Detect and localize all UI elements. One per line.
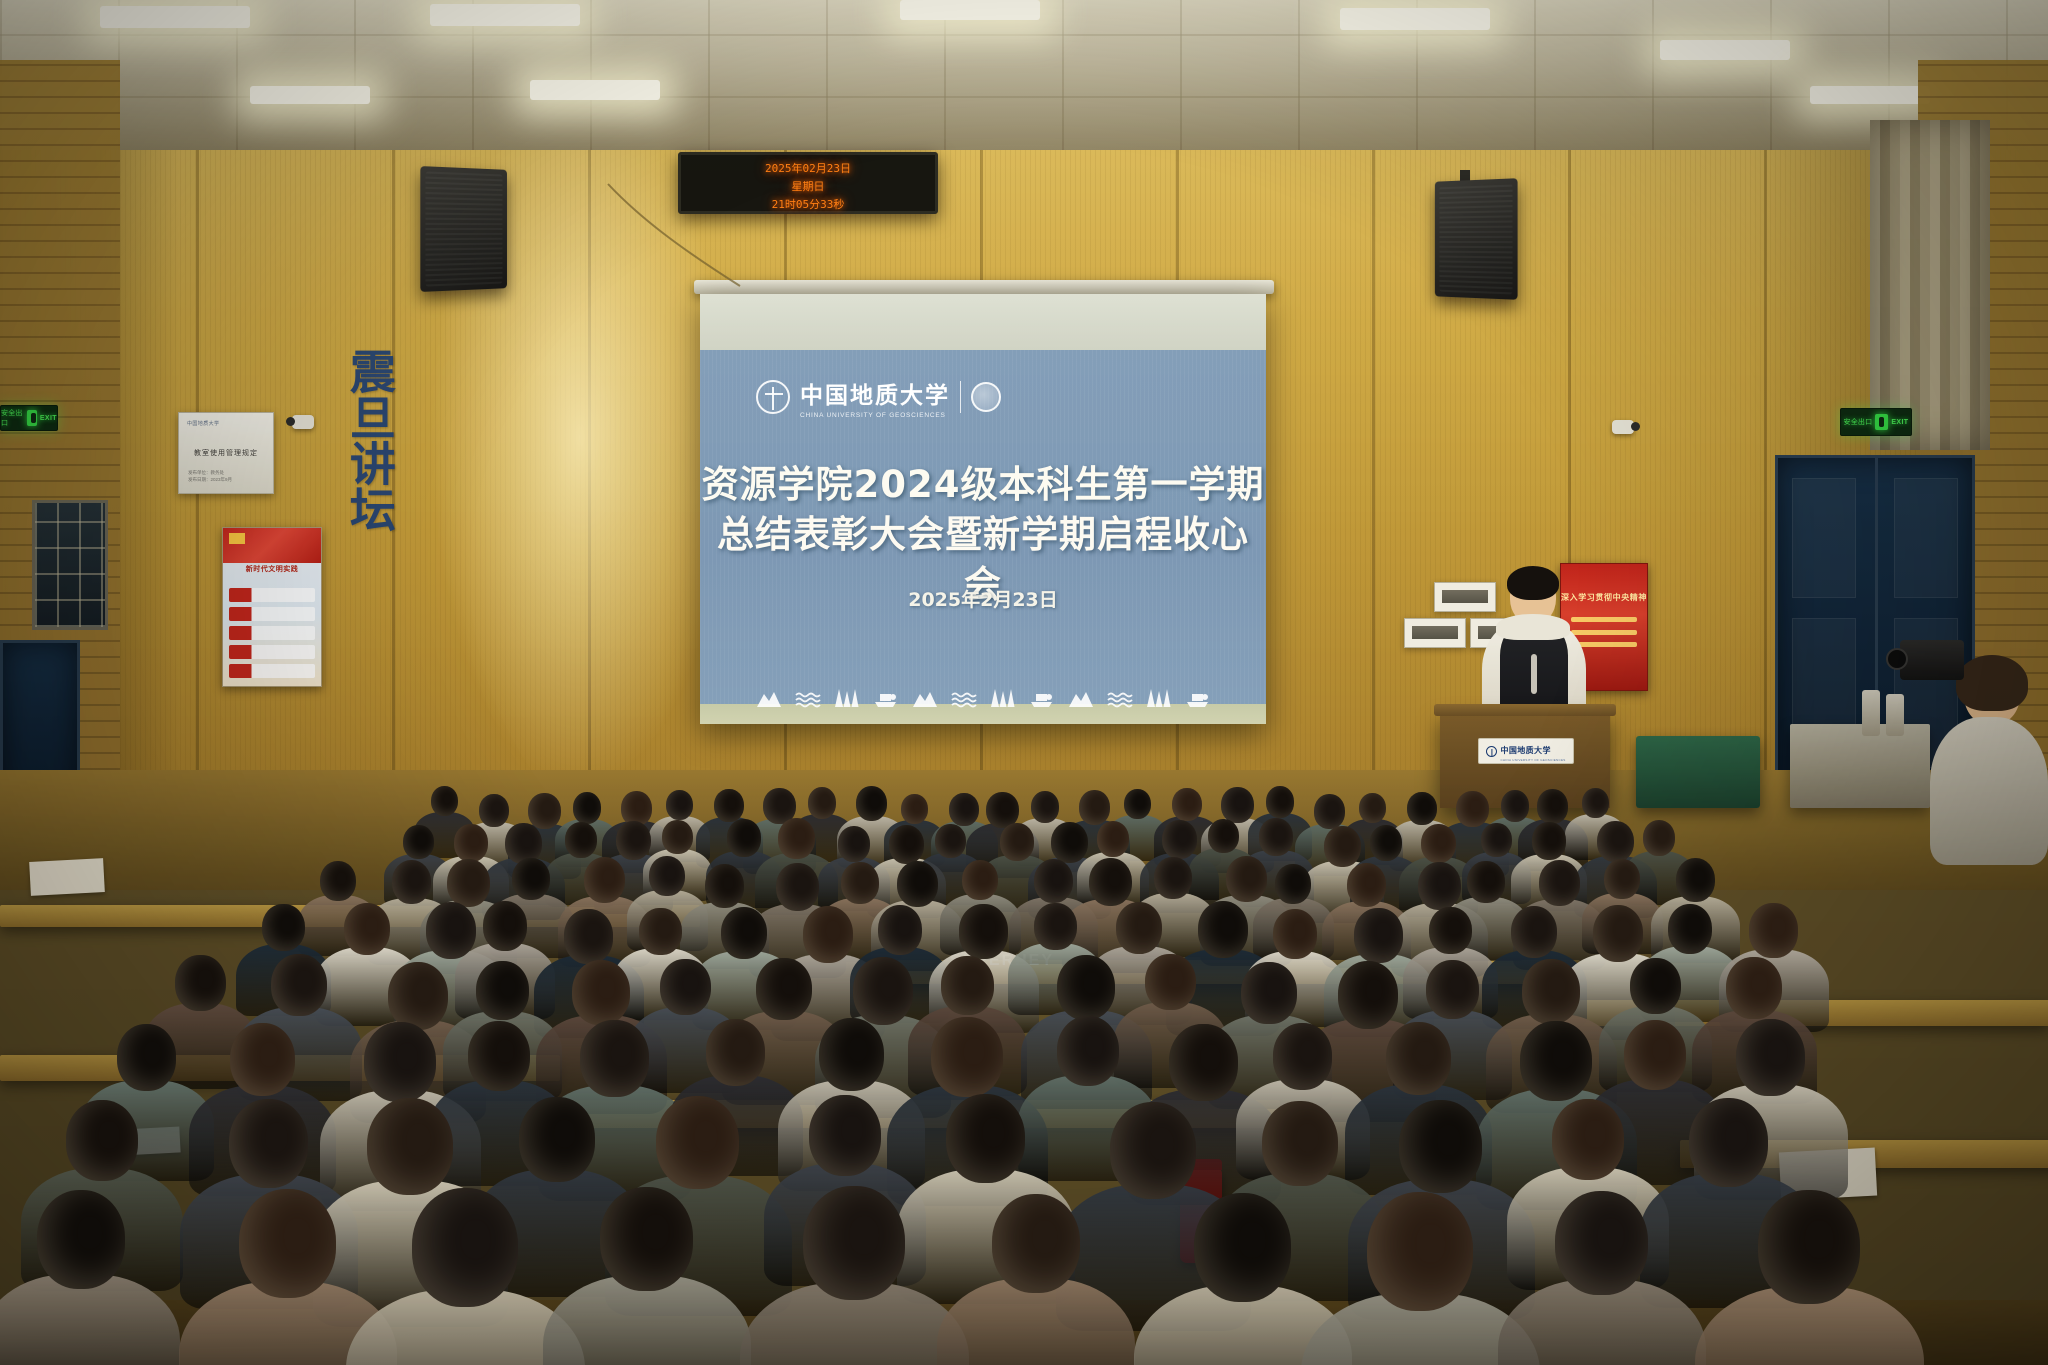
audience-member-head bbox=[992, 1194, 1080, 1293]
audience-member-head bbox=[878, 905, 922, 955]
exit-sign-label-cn: 安全出口 bbox=[1844, 417, 1873, 427]
audience-member-head bbox=[468, 1021, 530, 1091]
audience-member-head bbox=[1262, 1101, 1338, 1186]
audience-member-head bbox=[1604, 859, 1640, 899]
podium-seal-icon bbox=[1486, 746, 1497, 757]
pine-trees-motif-icon bbox=[1146, 688, 1172, 708]
presentation-slide: 中国地质大学 CHINA UNIVERSITY OF GEOSCIENCES 资… bbox=[700, 350, 1266, 724]
podium-plate-cn: 中国地质大学 bbox=[1500, 746, 1550, 755]
notice-footer: 发布单位：教务处 发布日期：2023年9月 bbox=[188, 469, 232, 484]
audience-member-head bbox=[1624, 1020, 1686, 1090]
audience-member-head bbox=[808, 787, 836, 819]
notice-footer-line2: 发布日期：2023年9月 bbox=[188, 476, 232, 484]
audience-member-head bbox=[1273, 1023, 1332, 1090]
slide-title-line1: 资源学院2024级本科生第一学期 bbox=[700, 460, 1266, 510]
audience-member-head bbox=[714, 789, 744, 822]
audience-member-head bbox=[230, 1023, 295, 1096]
wall-speaker-left bbox=[420, 166, 507, 292]
audience-member-head bbox=[935, 824, 966, 858]
running-man-icon bbox=[27, 410, 37, 426]
projector-screen-housing bbox=[694, 280, 1274, 294]
notice-header: 中国地质大学 bbox=[187, 420, 219, 427]
camera-operator bbox=[1930, 655, 2048, 865]
wall-speaker-right bbox=[1435, 178, 1518, 300]
audience-member-head bbox=[367, 1098, 454, 1195]
audience-member-head bbox=[1758, 1190, 1860, 1304]
audience-member-head bbox=[483, 901, 527, 951]
ceiling bbox=[0, 0, 2048, 160]
audience-member-head bbox=[344, 903, 391, 955]
audience-member-head bbox=[1034, 903, 1076, 950]
audience-member-head bbox=[1354, 908, 1403, 963]
presenter-hair bbox=[1507, 566, 1559, 600]
audience-member-head bbox=[1370, 825, 1402, 861]
podium-top-surface bbox=[1434, 704, 1616, 716]
boat-motif-icon bbox=[873, 690, 899, 708]
microphone-icon bbox=[1531, 654, 1537, 694]
exit-sign-left: 安全出口 EXIT bbox=[0, 405, 58, 431]
audience-member-head bbox=[1511, 906, 1558, 958]
audience-member-head bbox=[320, 861, 356, 901]
notice-title: 教室使用管理规定 bbox=[179, 448, 273, 458]
audience-member-head bbox=[1429, 907, 1471, 954]
audience-member-head bbox=[962, 860, 998, 900]
audience-member-head bbox=[1154, 857, 1192, 899]
audience-member-head bbox=[1593, 905, 1644, 962]
audience-member-head bbox=[1172, 788, 1202, 821]
poster-red-header bbox=[223, 528, 321, 563]
podium-plate-en: CHINA UNIVERSITY OF GEOSCIENCES bbox=[1500, 758, 1565, 762]
audience-member-head bbox=[1241, 962, 1296, 1024]
audience-member-head bbox=[1266, 786, 1294, 818]
audience-member-head bbox=[1399, 1100, 1482, 1193]
audience-member bbox=[1695, 1190, 1924, 1365]
right-curtain bbox=[1870, 120, 1990, 450]
ceiling-light-panel bbox=[1340, 8, 1490, 30]
audience-member-head bbox=[1537, 789, 1568, 824]
audience-member-head bbox=[1539, 860, 1580, 906]
wall-frame-lower-a bbox=[1404, 618, 1466, 648]
audience-member bbox=[0, 1190, 180, 1365]
audience-member-head bbox=[838, 826, 870, 862]
poster-row bbox=[229, 664, 315, 678]
door-panel bbox=[1894, 478, 1958, 598]
exit-sign-label-cn: 安全出口 bbox=[1, 408, 24, 428]
audience-member bbox=[937, 1194, 1135, 1365]
audience-member-head bbox=[1522, 959, 1580, 1024]
audience-member-head bbox=[1079, 790, 1110, 825]
audience-member-head bbox=[512, 858, 550, 900]
logo-divider bbox=[960, 381, 961, 413]
wall-calligraphy: 震旦讲坛 bbox=[340, 348, 399, 532]
audience-member-head bbox=[662, 820, 693, 854]
ceiling-light-panel bbox=[250, 86, 370, 104]
audience-member-head bbox=[1520, 1021, 1591, 1101]
audience-member-head bbox=[565, 822, 597, 858]
ceiling-light-panel bbox=[430, 4, 580, 26]
logo-text-block: 中国地质大学 CHINA UNIVERSITY OF GEOSCIENCES bbox=[800, 376, 950, 419]
audience-member-head bbox=[564, 909, 613, 964]
audience-member-head bbox=[519, 1097, 595, 1182]
led-clock-date: 2025年02月23日 bbox=[681, 160, 935, 176]
presenter-hood bbox=[1496, 614, 1570, 640]
audience-member-head bbox=[1208, 819, 1239, 853]
audience-member-head bbox=[853, 957, 914, 1025]
audience-member-head bbox=[1481, 823, 1512, 857]
audience-member-head bbox=[388, 962, 449, 1030]
audience-member-head bbox=[403, 825, 434, 859]
mountain-motif-icon bbox=[756, 690, 782, 708]
slide-university-logo: 中国地质大学 CHINA UNIVERSITY OF GEOSCIENCES bbox=[756, 376, 1001, 419]
thermos-flask bbox=[1862, 690, 1880, 736]
audience-member-head bbox=[66, 1100, 138, 1181]
logo-name-cn: 中国地质大学 bbox=[800, 376, 950, 410]
thermos-flask bbox=[1886, 694, 1904, 736]
audience-member-head bbox=[1194, 1193, 1291, 1302]
audience-member-head bbox=[1347, 863, 1387, 907]
audience-member-head bbox=[1097, 821, 1129, 857]
ceiling-light-panel bbox=[1810, 86, 1930, 104]
audience-member-head bbox=[271, 954, 326, 1016]
ceiling-light-panel bbox=[1660, 40, 1790, 60]
audience-member-head bbox=[706, 1019, 765, 1086]
audience-member bbox=[740, 1186, 969, 1365]
audience-member-head bbox=[262, 904, 304, 951]
poster-row bbox=[229, 645, 315, 659]
audience-member-head bbox=[1726, 957, 1781, 1019]
mountain-motif-icon bbox=[1068, 690, 1094, 708]
camera-operator-hair bbox=[1956, 655, 2028, 711]
paper-sheet bbox=[29, 858, 105, 896]
projector-cable bbox=[600, 178, 760, 298]
audience-member-head bbox=[1089, 858, 1132, 906]
audience-member-head bbox=[931, 1017, 1002, 1097]
audience-member-head bbox=[1676, 858, 1716, 902]
audience-member-head bbox=[946, 1094, 1025, 1183]
audience-member-head bbox=[1689, 1098, 1768, 1187]
screen-blank-area bbox=[700, 294, 1266, 350]
podium-nameplate: 中国地质大学 CHINA UNIVERSITY OF GEOSCIENCES bbox=[1478, 738, 1574, 764]
audience-member-head bbox=[1259, 818, 1293, 856]
audience-member-head bbox=[1552, 1099, 1624, 1180]
faculty-badge-icon bbox=[971, 382, 1001, 412]
audience-member-head bbox=[1668, 904, 1712, 954]
university-seal-icon bbox=[756, 380, 790, 414]
audience-member-head bbox=[1110, 1102, 1197, 1199]
audience-member-head bbox=[1314, 794, 1345, 829]
audience-member-head bbox=[229, 1099, 308, 1188]
audience-member-head bbox=[901, 794, 928, 824]
exit-sign-label-en: EXIT bbox=[1891, 419, 1908, 426]
boat-motif-icon bbox=[1029, 690, 1055, 708]
audience-member-head bbox=[959, 904, 1008, 959]
poster-row bbox=[229, 607, 315, 621]
audience-member-head bbox=[412, 1188, 518, 1307]
audience-member-head bbox=[666, 790, 693, 820]
audience-member bbox=[543, 1187, 751, 1365]
audience-member-head bbox=[1338, 961, 1399, 1029]
audience-member-head bbox=[809, 1095, 881, 1176]
audience-member-head bbox=[600, 1187, 693, 1291]
exit-sign-label-en: EXIT bbox=[40, 415, 57, 422]
audience-member-head bbox=[1407, 792, 1437, 825]
grey-equipment-cabinet bbox=[1790, 724, 1930, 808]
wave-motif-icon bbox=[795, 690, 821, 708]
audience-member-head bbox=[1736, 1019, 1804, 1096]
poster-row bbox=[229, 588, 315, 602]
wave-motif-icon bbox=[1107, 690, 1133, 708]
logo-name-en: CHINA UNIVERSITY OF GEOSCIENCES bbox=[800, 412, 950, 419]
audience-member-head bbox=[803, 1186, 905, 1300]
slide-date: 2025年2月23日 bbox=[700, 585, 1266, 612]
wave-motif-icon bbox=[951, 690, 977, 708]
audience-member-head bbox=[778, 818, 815, 859]
audience-member-head bbox=[705, 864, 745, 908]
audience-member-head bbox=[1467, 861, 1505, 903]
audience-member-head bbox=[573, 792, 601, 824]
white-notice-sign: 中国地质大学 教室使用管理规定 发布单位：教务处 发布日期：2023年9月 bbox=[178, 412, 274, 494]
security-camera-right bbox=[1612, 420, 1634, 434]
audience-member-head bbox=[580, 1020, 648, 1097]
audience-member-head bbox=[117, 1024, 176, 1091]
audience-member-head bbox=[1273, 909, 1317, 959]
audience-member-head bbox=[897, 861, 938, 907]
notice-footer-line1: 发布单位：教务处 bbox=[188, 469, 232, 477]
audience-member-head bbox=[175, 955, 225, 1011]
audience-member-head bbox=[656, 1096, 739, 1189]
audience-member-head bbox=[1057, 955, 1115, 1020]
audience-member-head bbox=[1421, 824, 1456, 863]
poster-title: 新时代文明实践 bbox=[223, 564, 321, 574]
audience-member-head bbox=[1198, 901, 1249, 958]
audience-member-head bbox=[431, 786, 458, 816]
audience-member-head bbox=[941, 956, 994, 1015]
audience-member-head bbox=[1116, 902, 1163, 954]
audience-member-head bbox=[1386, 1022, 1451, 1095]
audience-member-head bbox=[476, 961, 529, 1020]
audience-member-head bbox=[1749, 903, 1798, 958]
camera-lens-icon bbox=[1886, 648, 1908, 670]
projection-screen: 中国地质大学 CHINA UNIVERSITY OF GEOSCIENCES 资… bbox=[700, 294, 1266, 724]
audience-member-head bbox=[660, 959, 710, 1015]
audience-member-head bbox=[1532, 822, 1566, 860]
podium-plate-text-block: 中国地质大学 CHINA UNIVERSITY OF GEOSCIENCES bbox=[1500, 740, 1565, 762]
audience-member-head bbox=[1367, 1192, 1473, 1311]
audience-member-head bbox=[819, 1018, 884, 1091]
blue-propaganda-poster: 新时代文明实践 bbox=[222, 527, 322, 687]
ceiling-light-panel bbox=[530, 80, 660, 100]
audience-member-head bbox=[1275, 864, 1311, 904]
audience-member-head bbox=[1582, 788, 1609, 818]
camera-operator-torso bbox=[1930, 717, 2048, 865]
flag-icon bbox=[229, 533, 245, 544]
security-camera-left bbox=[292, 415, 314, 429]
running-man-icon bbox=[1875, 414, 1888, 430]
audience-member-head bbox=[1426, 960, 1479, 1019]
audience-member-head bbox=[1630, 958, 1680, 1014]
boat-motif-icon bbox=[1185, 690, 1211, 708]
door-panel bbox=[1792, 478, 1856, 598]
audience-member-head bbox=[1124, 789, 1151, 819]
exit-sign-right: 安全出口 EXIT bbox=[1840, 408, 1912, 436]
audience-member-head bbox=[239, 1189, 336, 1298]
audience-member-head bbox=[803, 906, 854, 963]
video-camera-icon bbox=[1900, 640, 1964, 680]
audience-member-head bbox=[572, 960, 630, 1025]
ceiling-light-panel bbox=[900, 0, 1040, 20]
audience-member-head bbox=[37, 1190, 125, 1289]
pine-trees-motif-icon bbox=[990, 688, 1016, 708]
audience-member-head bbox=[1031, 791, 1059, 823]
audience-member-head bbox=[1359, 793, 1386, 823]
audience-member-head bbox=[1169, 1024, 1237, 1101]
audience-member-head bbox=[756, 958, 811, 1020]
ceiling-shading bbox=[0, 0, 2048, 160]
ceiling-light-panel bbox=[100, 6, 250, 28]
audience-member-head bbox=[776, 863, 819, 911]
audience-member-head bbox=[1057, 1016, 1119, 1086]
audience-member-head bbox=[584, 857, 625, 903]
slide-decorative-band bbox=[700, 672, 1266, 724]
pine-trees-motif-icon bbox=[834, 688, 860, 708]
speaker-grille bbox=[1439, 184, 1512, 295]
audience-member bbox=[1498, 1191, 1706, 1365]
mountain-motif-icon bbox=[912, 690, 938, 708]
left-window-bars bbox=[35, 503, 105, 627]
audience-member-head bbox=[1555, 1191, 1648, 1295]
speaker-grille bbox=[425, 171, 502, 286]
audience-member-head bbox=[1145, 954, 1195, 1010]
audience-member-head bbox=[364, 1022, 435, 1102]
audience-member-head bbox=[856, 786, 887, 821]
lecture-hall-photo: 安全出口 EXIT 安全出口 EXIT 2025年02月23日 星期日 21时0… bbox=[0, 0, 2048, 1365]
poster-row bbox=[229, 626, 315, 640]
green-equipment-cabinet bbox=[1636, 736, 1760, 808]
audience-member-head bbox=[639, 908, 681, 955]
audience-member-head bbox=[1643, 820, 1675, 856]
audience-member-head bbox=[721, 907, 768, 959]
